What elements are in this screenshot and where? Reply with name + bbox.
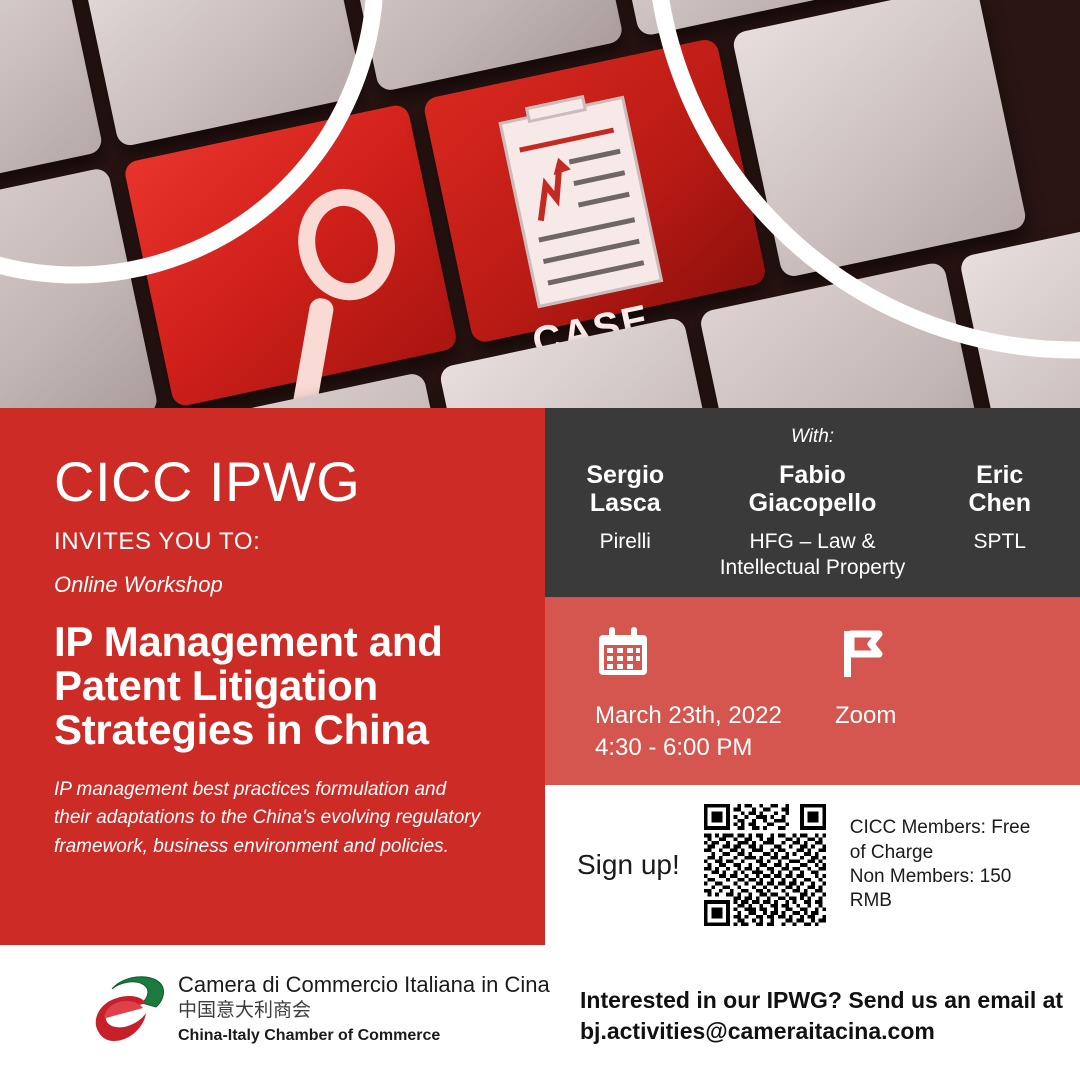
with-label: With:: [545, 426, 1080, 448]
contact-email[interactable]: bj.activities@cameraitacina.com: [580, 1016, 1063, 1047]
event-poster: CASE STUDY CICC IPWG IN: [0, 0, 1080, 1080]
speakers-panel: With: Sergio Lasca Pirelli Fabio Giacope…: [545, 408, 1080, 597]
logo-text-english: China-Italy Chamber of Commerce: [178, 1026, 550, 1045]
logo-text-chinese: 中国意大利商会: [178, 1000, 550, 1023]
platform-block: Zoom: [835, 625, 896, 732]
calendar-icon: [595, 625, 651, 681]
event-headline: IP Management and Patent Litigation Stra…: [54, 620, 499, 752]
chart-line-icon: [524, 148, 598, 225]
footer: Camera di Commercio Italiana in Cina 中国意…: [0, 945, 1080, 1080]
date-time-block: March 23th, 2022 4:30 - 6:00 PM: [595, 625, 782, 765]
speaker-card: Fabio Giacopello HFG – Law & Intellectua…: [706, 462, 920, 582]
event-date-time: March 23th, 2022 4:30 - 6:00 PM: [595, 700, 782, 765]
signup-label: Sign up!: [577, 849, 680, 881]
organization-logo: Camera di Commercio Italiana in Cina 中国意…: [90, 973, 550, 1045]
left-info-panel: CICC IPWG INVITES YOU TO: Online Worksho…: [0, 408, 545, 945]
speaker-name: Eric Chen: [923, 462, 1076, 517]
event-description: IP management best practices formulation…: [54, 776, 484, 860]
contact-prompt: Interested in our IPWG? Send us an email…: [580, 985, 1063, 1016]
keyboard-key: [731, 0, 1028, 279]
keyboard-key-case-study: CASE STUDY: [422, 37, 767, 344]
speaker-card: Eric Chen SPTL: [919, 462, 1080, 555]
event-platform: Zoom: [835, 700, 896, 732]
flag-icon: [835, 625, 891, 681]
pricing-info: CICC Members: Free of Charge Non Members…: [850, 816, 1050, 913]
speaker-org: SPTL: [923, 529, 1076, 555]
hero-image: CASE STUDY: [0, 0, 1080, 410]
logo-text-italian: Camera di Commercio Italiana in Cina: [178, 973, 550, 998]
speaker-card: Sergio Lasca Pirelli: [545, 462, 706, 555]
qr-code-icon[interactable]: [704, 804, 826, 926]
page-title: CICC IPWG: [54, 454, 499, 510]
signup-panel: Sign up!: [545, 785, 1080, 945]
speaker-org: HFG – Law & Intellectual Property: [710, 529, 916, 582]
keyboard-photo: CASE STUDY: [0, 0, 1080, 410]
keyboard-key-search: [123, 103, 459, 408]
speaker-org: Pirelli: [549, 529, 702, 555]
invitation-label: INVITES YOU TO:: [54, 528, 499, 556]
cicc-e-swoosh-logo-icon: [90, 973, 168, 1045]
speaker-name: Sergio Lasca: [549, 462, 702, 517]
clipboard-chart-icon: [498, 96, 663, 308]
event-details-panel: March 23th, 2022 4:30 - 6:00 PM Zoom: [545, 597, 1080, 785]
speaker-name: Fabio Giacopello: [710, 462, 916, 517]
contact-info[interactable]: Interested in our IPWG? Send us an email…: [580, 985, 1063, 1047]
event-type-label: Online Workshop: [54, 572, 499, 598]
